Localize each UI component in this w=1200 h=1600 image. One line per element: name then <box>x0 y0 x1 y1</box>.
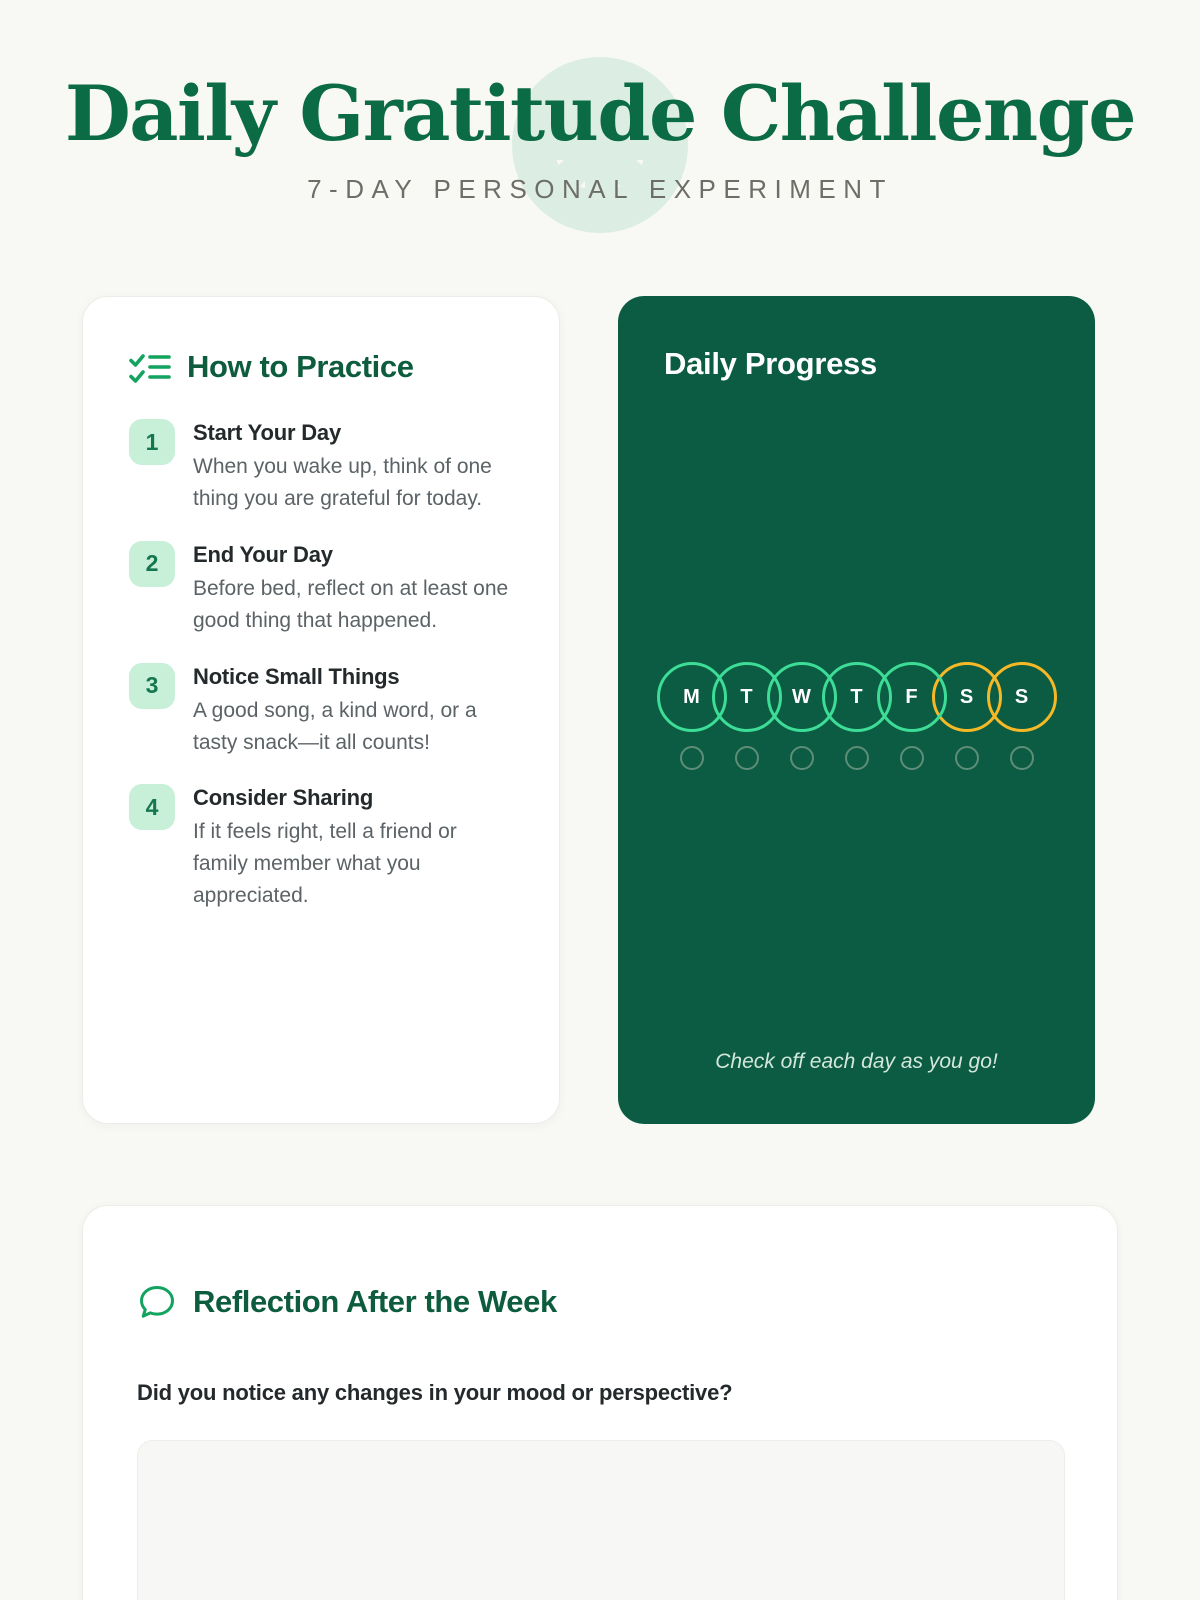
step-number-badge: 4 <box>129 784 175 830</box>
day-label: W <box>792 686 811 709</box>
page-header: Daily Gratitude Challenge 7-Day Personal… <box>0 0 1200 205</box>
step-title: End Your Day <box>193 542 513 568</box>
list-item: 2 End Your Day Before bed, reflect on at… <box>129 541 513 637</box>
practice-card-title: How to Practice <box>187 349 414 385</box>
day-checkbox-2[interactable] <box>735 746 759 770</box>
day-label: S <box>960 686 973 709</box>
day-checkbox-row <box>657 746 1057 770</box>
step-description: If it feels right, tell a friend or fami… <box>193 816 513 912</box>
progress-caption: Check off each day as you go! <box>664 1050 1049 1074</box>
step-number-badge: 3 <box>129 663 175 709</box>
reflection-card-header: Reflection After the Week <box>137 1282 1063 1322</box>
daily-progress-card: Daily Progress MTWTFSS Check off each da… <box>618 296 1095 1124</box>
step-description: A good song, a kind word, or a tasty sna… <box>193 695 513 759</box>
day-label: T <box>740 686 752 709</box>
poster-page: Daily Gratitude Challenge 7-Day Personal… <box>0 0 1200 1600</box>
practice-card-header: How to Practice <box>129 349 513 385</box>
step-title: Start Your Day <box>193 420 513 446</box>
how-to-practice-card: How to Practice 1 Start Your Day When yo… <box>82 296 560 1124</box>
step-description: Before bed, reflect on at least one good… <box>193 573 513 637</box>
step-number-badge: 1 <box>129 419 175 465</box>
practice-step-list: 1 Start Your Day When you wake up, think… <box>129 419 513 912</box>
day-circle-1[interactable]: M <box>657 662 727 732</box>
day-checkbox-3[interactable] <box>790 746 814 770</box>
day-circle-row: MTWTFSS <box>657 662 1057 734</box>
day-checkbox-1[interactable] <box>680 746 704 770</box>
day-checkbox-7[interactable] <box>1010 746 1034 770</box>
progress-tracker: MTWTFSS <box>664 382 1049 1050</box>
day-label: F <box>905 686 917 709</box>
list-item: 4 Consider Sharing If it feels right, te… <box>129 784 513 912</box>
list-item: 1 Start Your Day When you wake up, think… <box>129 419 513 515</box>
step-title: Consider Sharing <box>193 785 513 811</box>
reflection-card-title: Reflection After the Week <box>193 1284 557 1320</box>
day-checkbox-5[interactable] <box>900 746 924 770</box>
speech-bubble-icon <box>137 1282 177 1322</box>
reflection-card: Reflection After the Week Did you notice… <box>82 1205 1118 1600</box>
reflection-answer-input[interactable] <box>137 1440 1065 1600</box>
step-title: Notice Small Things <box>193 664 513 690</box>
reflection-question: Did you notice any changes in your mood … <box>137 1380 1063 1406</box>
day-label: T <box>850 686 862 709</box>
day-checkbox-4[interactable] <box>845 746 869 770</box>
step-number-badge: 2 <box>129 541 175 587</box>
day-label: S <box>1015 686 1028 709</box>
day-checkbox-6[interactable] <box>955 746 979 770</box>
checklist-icon <box>129 350 171 384</box>
list-item: 3 Notice Small Things A good song, a kin… <box>129 663 513 759</box>
page-subtitle: 7-Day Personal Experiment <box>0 174 1200 205</box>
progress-card-title: Daily Progress <box>664 346 1049 382</box>
page-title: Daily Gratitude Challenge <box>0 76 1200 152</box>
day-label: M <box>683 686 700 709</box>
step-description: When you wake up, think of one thing you… <box>193 451 513 515</box>
